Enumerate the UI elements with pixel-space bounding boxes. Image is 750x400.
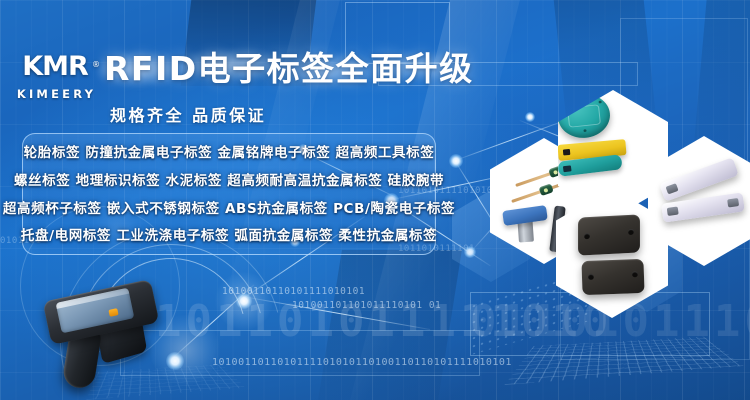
decor-network-node (449, 154, 463, 168)
rod-cap (539, 183, 554, 196)
product-list-row: 轮胎标签 防撞抗金属电子标签 金属铭牌电子标签 超高频工具标签 (23, 137, 435, 164)
product-list-panel: 轮胎标签 防撞抗金属电子标签 金属铭牌电子标签 超高频工具标签 螺丝标签 地理标… (22, 133, 436, 255)
logo-mark-text: KMR (22, 51, 88, 82)
product-list-row: 托盘/电网标签 工业洗涤电子标签 弧面抗金属标签 柔性抗金属标签 (23, 220, 435, 247)
page-title: RFID电子标签全面升级 (104, 50, 474, 88)
rfid-promo-banner: 101101011111010 0110101110101 1010011011… (0, 0, 750, 400)
logo-company-name: KIMEERY (12, 87, 98, 101)
binary-text-row: 101001101101011110101 01 (292, 300, 441, 311)
decor-network-node (525, 112, 535, 122)
page-subtitle: 规格齐全 品质保证 (110, 102, 266, 126)
blue-screw-head-tag (502, 205, 548, 226)
product-list-row: 超高频杯子标签 嵌入式不锈钢标签 ABS抗金属标签 PCB/陶瓷电子标签 (23, 193, 435, 220)
brand-logo[interactable]: KMR ® KIMEERY (12, 52, 98, 101)
product-list-row: 螺丝标签 地理标识标签 水泥标签 超高频耐高温抗金属标签 硅胶腕带 (23, 165, 435, 192)
dark-abs-rectangle-tag-front (578, 214, 640, 255)
handheld-rfid-reader[interactable] (36, 276, 226, 400)
logo-mark: KMR ® (12, 52, 98, 82)
dark-abs-rectangle-tag-back (581, 259, 644, 295)
